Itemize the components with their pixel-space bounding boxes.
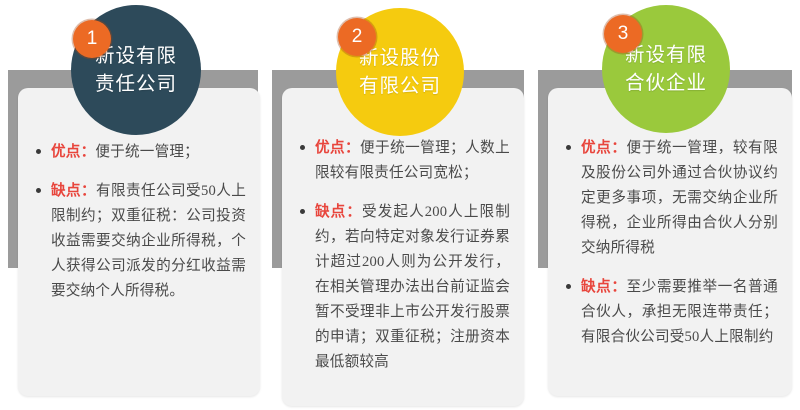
bullet-item: 缺点：至少需要推举一名普通合伙人，承担无限连带责任；有限合伙公司受50人上限制约 [560, 275, 778, 350]
bullet-dot-icon [300, 145, 305, 150]
bullet-label: 优点： [315, 140, 360, 156]
bullet-item: 缺点：有限责任公司受50人上限制约；双重征税：公司投资收益需要交纳企业所得税，个… [30, 179, 246, 304]
bullet-content: 便于统一管理，较有限及股份公司外通过合伙协议约定更多事项，无需交纳企业所得税，企… [581, 140, 778, 256]
bullet-content: 受发起人200人上限制约，若向特定对象发行证券累计超过200人则为公开发行，在相… [315, 204, 510, 370]
option-card-3[interactable]: 优点：便于统一管理，较有限及股份公司外通过合伙协议约定更多事项，无需交纳企业所得… [548, 88, 792, 396]
option-circle-1-title-line2: 责任公司 [95, 70, 177, 98]
bullet-text: 优点：便于统一管理，较有限及股份公司外通过合伙协议约定更多事项，无需交纳企业所得… [581, 136, 778, 261]
bullet-text: 缺点：有限责任公司受50人上限制约；双重征税：公司投资收益需要交纳企业所得税，个… [51, 179, 246, 304]
step-number-badge-1: 1 [73, 20, 111, 58]
diagram-canvas: 优点：便于统一管理； 缺点：有限责任公司受50人上限制约；双重征税：公司投资收益… [0, 0, 800, 410]
bullet-label: 优点： [51, 144, 95, 160]
bullet-text: 优点：便于统一管理；人数上限较有限责任公司宽松； [315, 136, 510, 186]
bullet-text: 缺点：至少需要推举一名普通合伙人，承担无限连带责任；有限合伙公司受50人上限制约 [581, 275, 778, 350]
bullet-text: 缺点：受发起人200人上限制约，若向特定对象发行证券累计超过200人则为公开发行… [315, 200, 510, 375]
bullet-item: 优点：便于统一管理；人数上限较有限责任公司宽松； [294, 136, 510, 186]
option-circle-2-title-line2: 有限公司 [359, 72, 441, 100]
bullet-label: 优点： [581, 140, 627, 156]
bullet-label: 缺点： [51, 183, 96, 199]
step-number-badge-2: 2 [338, 18, 376, 56]
bullet-item: 优点：便于统一管理； [30, 140, 246, 165]
bullet-item: 缺点：受发起人200人上限制约，若向特定对象发行证券累计超过200人则为公开发行… [294, 200, 510, 375]
bullet-label: 缺点： [581, 279, 627, 295]
bullet-text: 优点：便于统一管理； [51, 140, 246, 165]
step-number-badge-3: 3 [604, 15, 642, 53]
bullet-dot-icon [36, 188, 41, 193]
bullet-label: 缺点： [315, 204, 362, 220]
bullet-dot-icon [36, 149, 41, 154]
option-circle-3-title-line2: 合伙企业 [625, 69, 707, 97]
bullet-content: 有限责任公司受50人上限制约；双重征税：公司投资收益需要交纳企业所得税，个人获得… [51, 183, 246, 299]
bullet-item: 优点：便于统一管理，较有限及股份公司外通过合伙协议约定更多事项，无需交纳企业所得… [560, 136, 778, 261]
bullet-dot-icon [300, 209, 305, 214]
bullet-content: 便于统一管理； [95, 144, 199, 160]
bullet-dot-icon [566, 284, 571, 289]
bullet-dot-icon [566, 145, 571, 150]
